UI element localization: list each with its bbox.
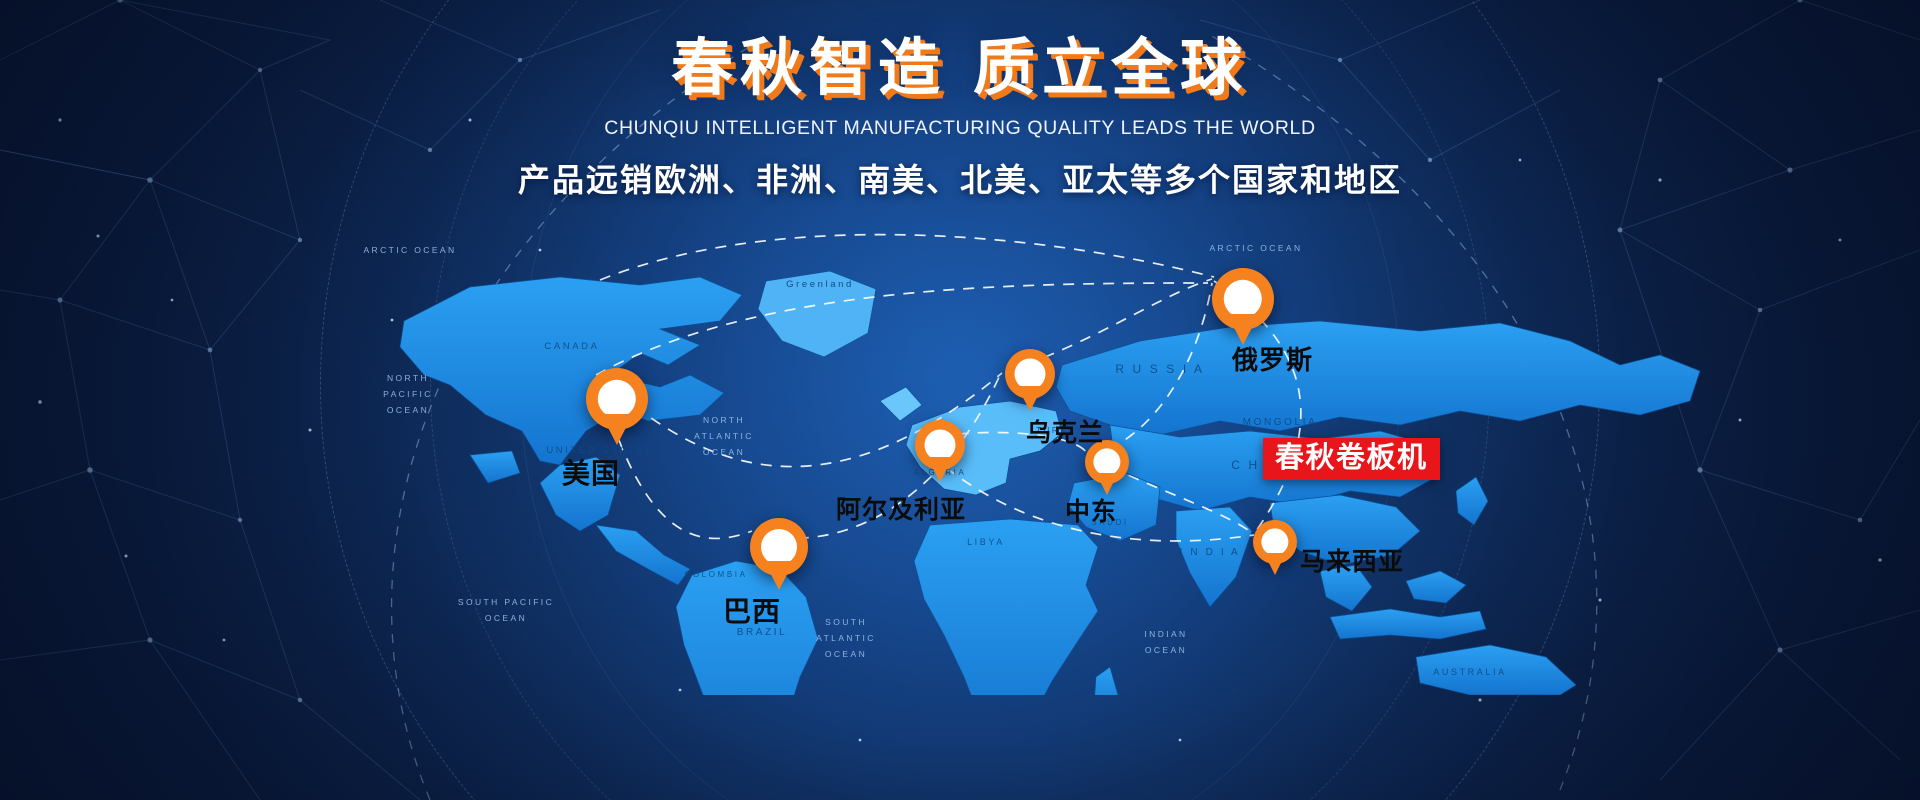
map-pin-brazil[interactable]	[750, 518, 808, 576]
map-pin-usa[interactable]	[586, 368, 648, 430]
svg-text:Greenland: Greenland	[786, 279, 854, 290]
svg-text:NORTH: NORTH	[703, 415, 745, 425]
pin-tail	[1264, 553, 1286, 575]
map-pin-ukraine[interactable]	[1005, 349, 1055, 399]
map-label-middleeast: 中东	[1065, 492, 1117, 528]
svg-text:OCEAN: OCEAN	[1145, 645, 1187, 655]
svg-text:AUSTRALIA: AUSTRALIA	[1433, 667, 1506, 677]
svg-text:PACIFIC: PACIFIC	[383, 389, 433, 399]
map-pin-russia[interactable]	[1212, 268, 1274, 330]
map-label-usa: 美国	[562, 452, 620, 492]
svg-text:ATLANTIC: ATLANTIC	[694, 431, 754, 441]
svg-text:MONGOLIA: MONGOLIA	[1243, 417, 1318, 428]
map-label-russia: 俄罗斯	[1232, 340, 1313, 377]
title-part-1: 春秋智造	[671, 34, 947, 103]
subtitle-english: CHUNQIU INTELLIGENT MANUFACTURING QUALIT…	[0, 117, 1920, 140]
pin-tail	[601, 414, 633, 445]
svg-text:SOUTH: SOUTH	[825, 617, 867, 627]
svg-text:ARCTIC OCEAN: ARCTIC OCEAN	[1209, 243, 1302, 253]
svg-text:INDIAN: INDIAN	[1144, 629, 1187, 639]
map-label-algeria: 阿尔及利亚	[836, 490, 966, 526]
map-pin-algeria[interactable]	[915, 420, 965, 470]
title-part-2: 质立全球	[973, 34, 1249, 103]
svg-text:OCEAN: OCEAN	[825, 649, 867, 659]
svg-text:OCEAN: OCEAN	[485, 613, 527, 623]
svg-text:ARCTIC OCEAN: ARCTIC OCEAN	[363, 245, 456, 255]
map-label-ukraine: 乌克兰	[1026, 413, 1104, 449]
svg-text:SOUTH PACIFIC: SOUTH PACIFIC	[458, 597, 554, 607]
svg-text:I N D I A: I N D I A	[1180, 547, 1241, 558]
svg-text:R U S S I A: R U S S I A	[1115, 362, 1204, 376]
svg-text:OCEAN: OCEAN	[703, 447, 745, 457]
promo-banner: 春秋智造质立全球 CHUNQIU INTELLIGENT MANUFACTURI…	[0, 0, 1920, 800]
svg-text:LIBYA: LIBYA	[967, 537, 1005, 547]
svg-text:NORTH: NORTH	[387, 373, 429, 383]
pin-tail	[1017, 386, 1043, 411]
map-label-malaysia: 马来西亚	[1300, 542, 1404, 578]
headline-block: 春秋智造质立全球 CHUNQIU INTELLIGENT MANUFACTURI…	[0, 36, 1920, 201]
brand-badge[interactable]: 春秋卷板机	[1263, 438, 1440, 480]
svg-text:COLOMBIA: COLOMBIA	[684, 570, 747, 579]
map-label-brazil: 巴西	[723, 590, 781, 630]
svg-text:OCEAN: OCEAN	[387, 405, 429, 415]
svg-text:CANADA: CANADA	[544, 341, 599, 352]
subtitle-chinese: 产品远销欧洲、非洲、南美、北美、亚太等多个国家和地区	[0, 155, 1920, 201]
page-title: 春秋智造质立全球	[0, 36, 1920, 103]
pin-tail	[927, 457, 953, 482]
pin-tail	[764, 561, 794, 590]
svg-text:ATLANTIC: ATLANTIC	[816, 633, 876, 643]
map-pin-malaysia[interactable]	[1253, 520, 1297, 564]
